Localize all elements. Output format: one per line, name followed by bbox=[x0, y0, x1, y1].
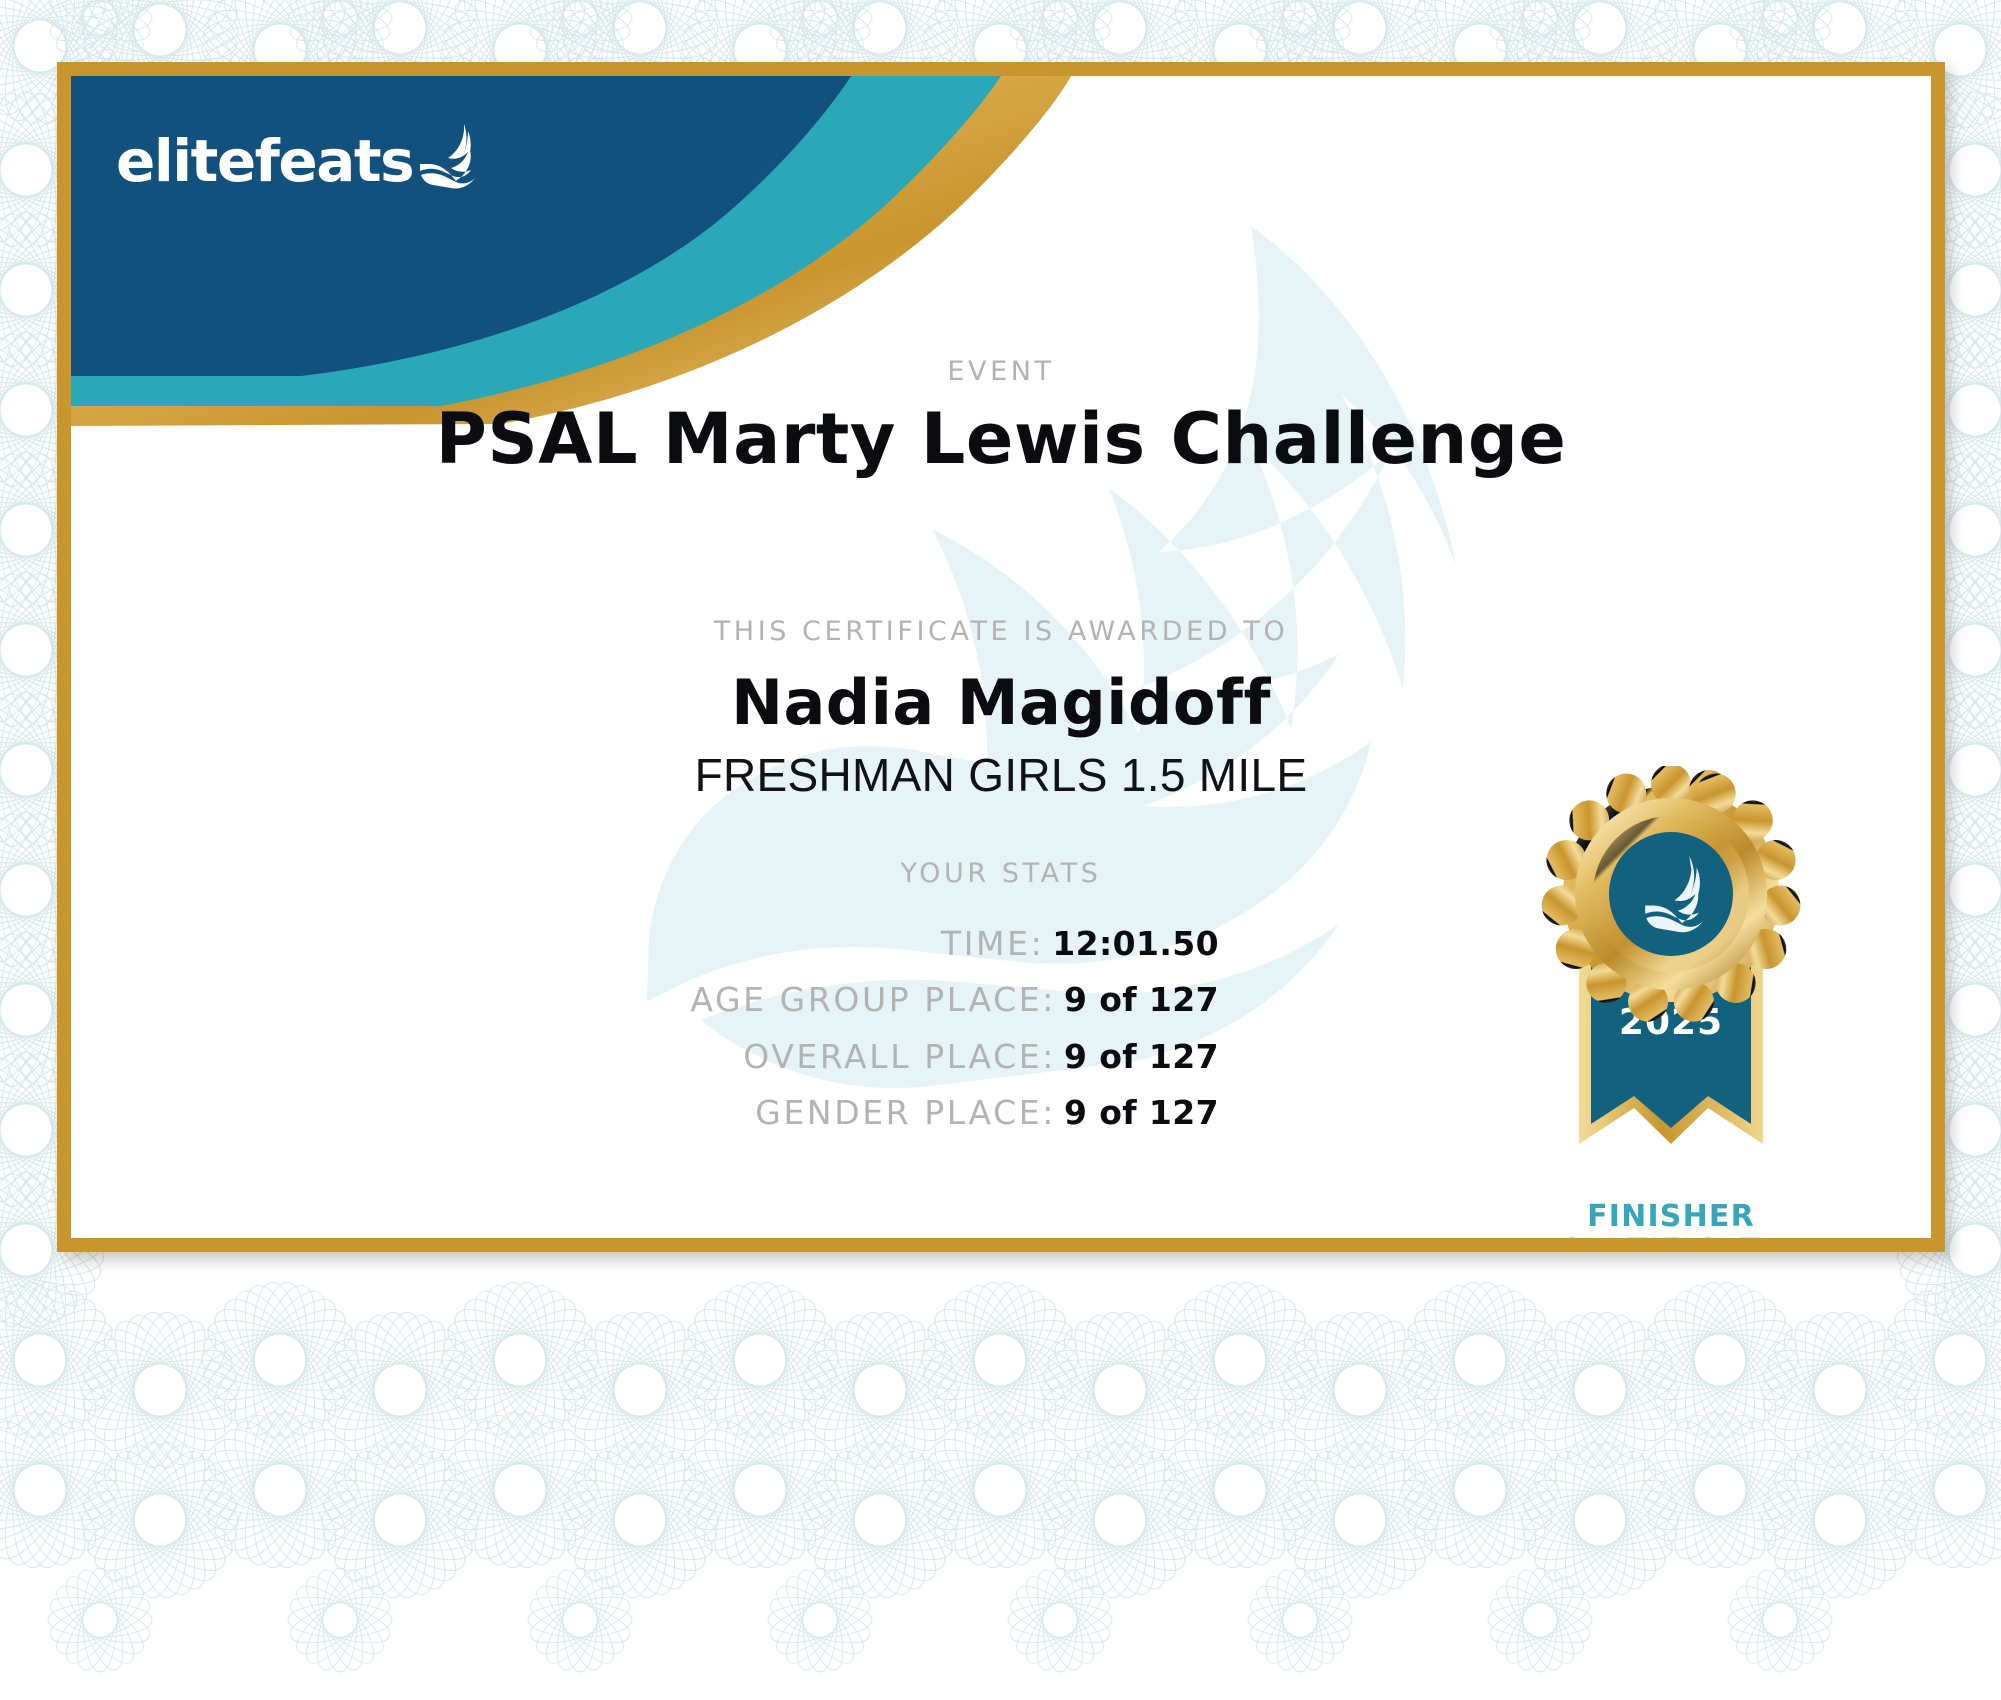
recipient-name: Nadia Magidoff bbox=[71, 666, 1931, 739]
stat-row-gender-place: GENDER PLACE:9 of 127 bbox=[71, 1095, 1219, 1131]
medal-caption: FINISHER CERTIFICATE bbox=[1521, 1200, 1821, 1238]
certificate-body: elitefeats EVENT PSAL Marty Lewis Challe… bbox=[71, 76, 1931, 1238]
certificate-frame: elitefeats EVENT PSAL Marty Lewis Challe… bbox=[57, 62, 1945, 1252]
stat-key: OVERALL PLACE: bbox=[743, 1037, 1056, 1076]
stat-value: 12:01.50 bbox=[1052, 924, 1219, 963]
stat-row-overall-place: OVERALL PLACE:9 of 127 bbox=[71, 1039, 1219, 1075]
awarded-to-label: THIS CERTIFICATE IS AWARDED TO bbox=[71, 616, 1931, 647]
stat-key: AGE GROUP PLACE: bbox=[690, 980, 1056, 1019]
finisher-medal-badge: 2025 bbox=[1521, 766, 1821, 1238]
stat-key: TIME: bbox=[941, 924, 1044, 963]
winged-foot-icon bbox=[415, 121, 477, 191]
stats-list: TIME:12:01.50 AGE GROUP PLACE:9 of 127 O… bbox=[71, 926, 1219, 1151]
event-title: PSAL Marty Lewis Challenge bbox=[71, 398, 1931, 480]
logo-wordmark: elitefeats bbox=[116, 132, 413, 190]
stat-value: 9 of 127 bbox=[1064, 980, 1219, 1019]
stat-row-age-group-place: AGE GROUP PLACE:9 of 127 bbox=[71, 982, 1219, 1018]
stat-value: 9 of 127 bbox=[1064, 1037, 1219, 1076]
stat-row-time: TIME:12:01.50 bbox=[71, 926, 1219, 962]
event-label: EVENT bbox=[71, 356, 1931, 387]
certificate-page: elitefeats EVENT PSAL Marty Lewis Challe… bbox=[0, 0, 2001, 1700]
stat-value: 9 of 127 bbox=[1064, 1093, 1219, 1132]
medal-caption-line2: CERTIFICATE bbox=[1521, 1234, 1821, 1238]
medal-caption-line1: FINISHER bbox=[1521, 1200, 1821, 1234]
medal-rosette-icon: 2025 bbox=[1521, 766, 1821, 1196]
stat-key: GENDER PLACE: bbox=[755, 1093, 1056, 1132]
elitefeats-logo: elitefeats bbox=[116, 131, 477, 191]
